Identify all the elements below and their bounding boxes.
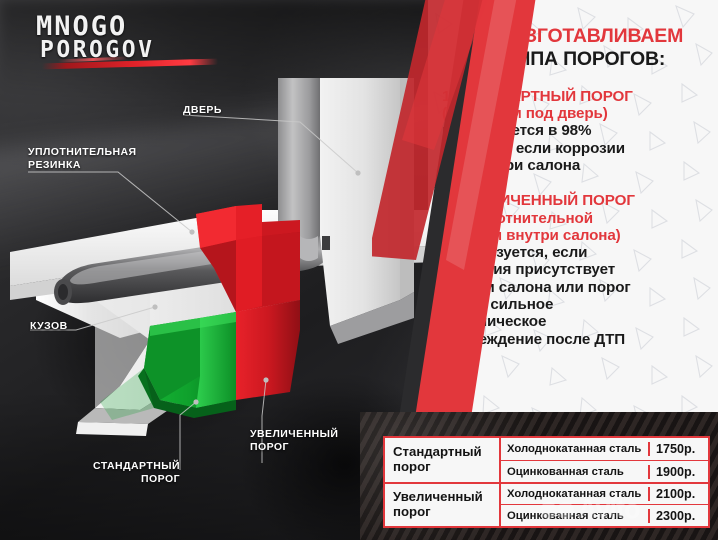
price-material: Оцинкованная сталь xyxy=(501,510,648,522)
table-row: Оцинкованная сталь 2300р. xyxy=(501,504,708,526)
heading-line-dark: 2 ТИПА ПОРОГОВ: xyxy=(442,49,712,69)
price-value: 1750р. xyxy=(648,442,708,456)
extended-body-line-1: используется, если xyxy=(442,244,712,261)
extended-body-line-5: механическое xyxy=(442,313,712,330)
price-material: Холоднокатанная сталь xyxy=(501,443,648,455)
price-category-standard-line-1: Стандартный xyxy=(393,445,482,460)
price-table: Стандартный порог Увеличенный порог Холо… xyxy=(383,436,710,528)
extended-body-line-3: внутри салона или порог xyxy=(442,279,712,296)
price-table-categories: Стандартный порог Увеличенный порог xyxy=(385,438,501,526)
heading-line-red: МЫ ИЗГОТАВЛИВАЕМ xyxy=(442,26,712,46)
callout-door: ДВЕРЬ xyxy=(183,104,222,117)
price-material: Холоднокатанная сталь xyxy=(501,488,648,500)
extended-subtitle-line-2: резинки внутри салона) xyxy=(442,227,712,244)
price-value: 2300р. xyxy=(648,509,708,523)
table-row: Холоднокатанная сталь 2100р. xyxy=(501,482,708,504)
price-category-extended-line-1: Увеличенный xyxy=(393,490,483,505)
type-block-standard: 1. СТАНДАРТНЫЙ ПОРОГ (с заходом под двер… xyxy=(442,88,712,175)
table-row: Оцинкованная сталь 1900р. xyxy=(501,460,708,482)
price-material: Оцинкованная сталь xyxy=(501,466,648,478)
callout-body: КУЗОВ xyxy=(30,320,68,333)
standard-body-line-2: случаев - если коррозии xyxy=(442,140,712,157)
extended-title: 2. УВЕЛИЧЕННЫЙ ПОРОГ xyxy=(442,192,712,209)
callout-seal: УПЛОТНИТЕЛЬНАЯ РЕЗИНКА xyxy=(28,146,137,173)
callout-standard-sill: СТАНДАРТНЫЙ ПОРОГ xyxy=(80,460,180,487)
standard-title: 1. СТАНДАРТНЫЙ ПОРОГ xyxy=(442,88,712,105)
standard-body-line-1: используется в 98% xyxy=(442,122,712,139)
extended-body-line-4: имеет сильное xyxy=(442,296,712,313)
standard-subtitle: (с заходом под дверь) xyxy=(442,105,712,122)
price-category-extended: Увеличенный порог xyxy=(385,482,499,526)
standard-body-line-3: нет внутри салона xyxy=(442,157,712,174)
info-panel-text: МЫ ИЗГОТАВЛИВАЕМ 2 ТИПА ПОРОГОВ: 1. СТАН… xyxy=(434,0,718,348)
type-block-extended: 2. УВЕЛИЧЕННЫЙ ПОРОГ (до уплотнительной … xyxy=(442,192,712,348)
advertisement-image: MNOGO POROGOV xyxy=(0,0,718,540)
price-category-standard: Стандартный порог xyxy=(385,438,499,482)
extended-body-line-2: коррозия присутствует xyxy=(442,261,712,278)
price-category-standard-line-2: порог xyxy=(393,460,482,475)
price-category-extended-line-2: порог xyxy=(393,505,483,520)
extended-body-line-6: повреждение после ДТП xyxy=(442,331,712,348)
extended-subtitle-line-1: (до уплотнительной xyxy=(442,210,712,227)
callout-extended-sill: УВЕЛИЧЕННЫЙ ПОРОГ xyxy=(250,428,338,455)
table-row: Холоднокатанная сталь 1750р. xyxy=(501,438,708,460)
price-value: 2100р. xyxy=(648,487,708,501)
price-value: 1900р. xyxy=(648,465,708,479)
price-table-rows: Холоднокатанная сталь 1750р. Оцинкованна… xyxy=(501,438,708,526)
